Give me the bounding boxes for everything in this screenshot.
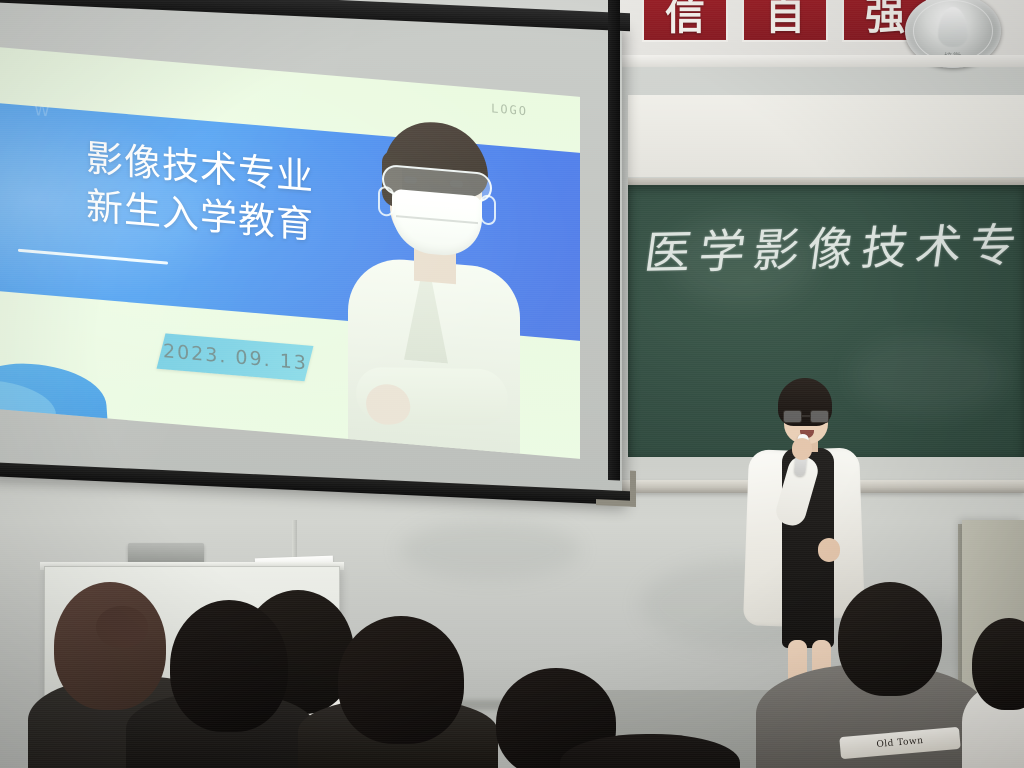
glasses-lens-left (783, 410, 802, 423)
speaker-hand-right (818, 538, 840, 562)
projected-slide: W LOGO 影像技术专业 新生入学教育 (0, 46, 580, 459)
slide-medical-professional-figure (338, 84, 528, 456)
list-item (838, 582, 942, 696)
hair-bun (96, 606, 148, 648)
wall-strip-above-chalkboard (628, 95, 1024, 177)
slide-watermark: W (34, 100, 50, 120)
screen-right-border (608, 0, 620, 481)
list-item (338, 616, 464, 744)
classroom-photo: 信 自 强 校徽 医学影像技术专 W LOGO 影像技术专业 新生入学 (0, 0, 1024, 768)
motto-panel-2: 自 (742, 0, 828, 42)
wall-stain (400, 520, 580, 580)
slide-title: 影像技术专业 新生入学教育 (86, 135, 314, 251)
slide-date-badge: 2023. 09. 13 (157, 333, 314, 381)
projector-screen: W LOGO 影像技术专业 新生入学教育 (0, 0, 622, 503)
screen-mount-bracket (596, 469, 636, 507)
slide-date-text: 2023. 09. 13 (163, 340, 308, 374)
mask-strap-right (480, 194, 496, 225)
chalk-smudge (848, 335, 1008, 415)
motto-char-1: 信 (665, 0, 705, 36)
glasses-bridge (802, 415, 810, 417)
banner-base-molding (620, 55, 1024, 67)
list-item (170, 600, 288, 732)
tshirt-graphic-text: Old Town (876, 736, 924, 750)
motto-char-2: 自 (765, 0, 805, 36)
glasses-icon (782, 410, 830, 423)
chalkboard-handwriting: 医学影像技术专 (641, 209, 1024, 283)
glasses-lens-right (810, 410, 829, 423)
face-mask-icon (392, 189, 482, 259)
motto-char-3: 强 (865, 0, 905, 36)
motto-panel-1: 信 (642, 0, 728, 42)
mask-strap-left (378, 186, 394, 217)
speaker-hand-left (792, 438, 812, 460)
